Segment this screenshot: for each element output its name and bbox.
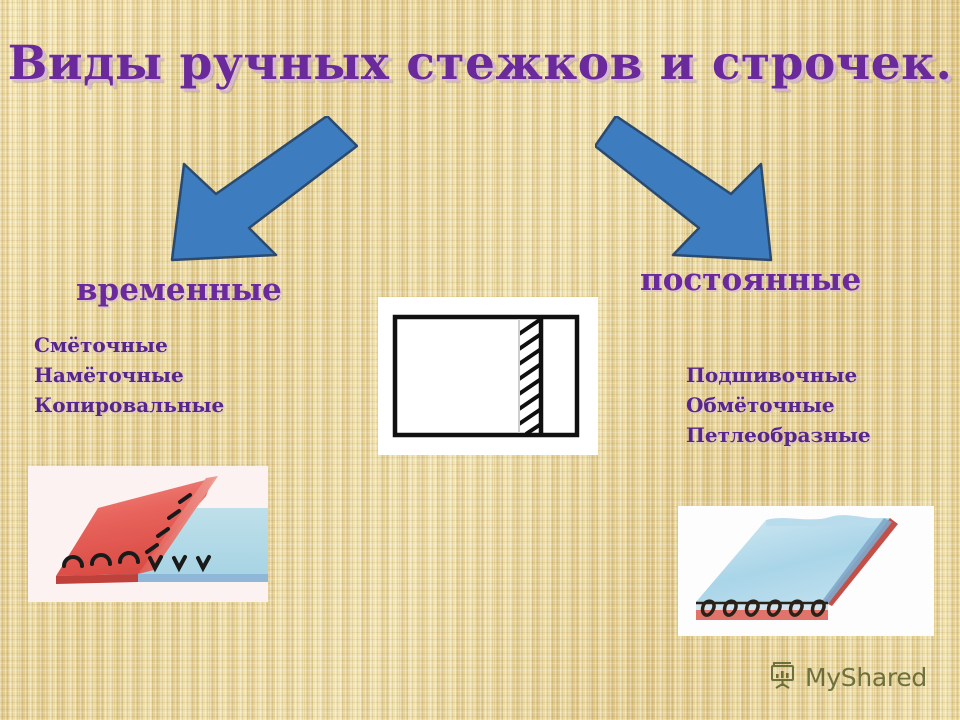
page-title: Виды ручных стежков и строчек.	[0, 36, 960, 91]
list-item: Намёточные	[34, 360, 224, 390]
temporary-stitch-list: Смёточные Намёточные Копировальные	[34, 330, 224, 420]
arrow-down-left-icon	[168, 116, 358, 262]
list-item: Копировальные	[34, 390, 224, 420]
branch-heading-permanent: постоянные	[640, 262, 861, 298]
list-item: Подшивочные	[686, 360, 871, 390]
watermark: MyShared	[768, 660, 927, 695]
permanent-stitch-list: Подшивочные Обмёточные Петлеобразные	[686, 360, 871, 450]
branch-heading-temporary: временные	[76, 272, 282, 308]
list-item: Петлеобразные	[686, 420, 871, 450]
presentation-chart-icon	[768, 660, 798, 695]
arrow-down-right-icon	[595, 116, 775, 262]
list-item: Смёточные	[34, 330, 224, 360]
watermark-label: MyShared	[805, 663, 927, 692]
overcast-stitch-photo	[678, 506, 934, 636]
stitch-diagram	[378, 297, 598, 455]
hem-stitch-photo	[28, 466, 268, 602]
list-item: Обмёточные	[686, 390, 871, 420]
slide-canvas: Виды ручных стежков и строчек. временные…	[0, 0, 960, 720]
